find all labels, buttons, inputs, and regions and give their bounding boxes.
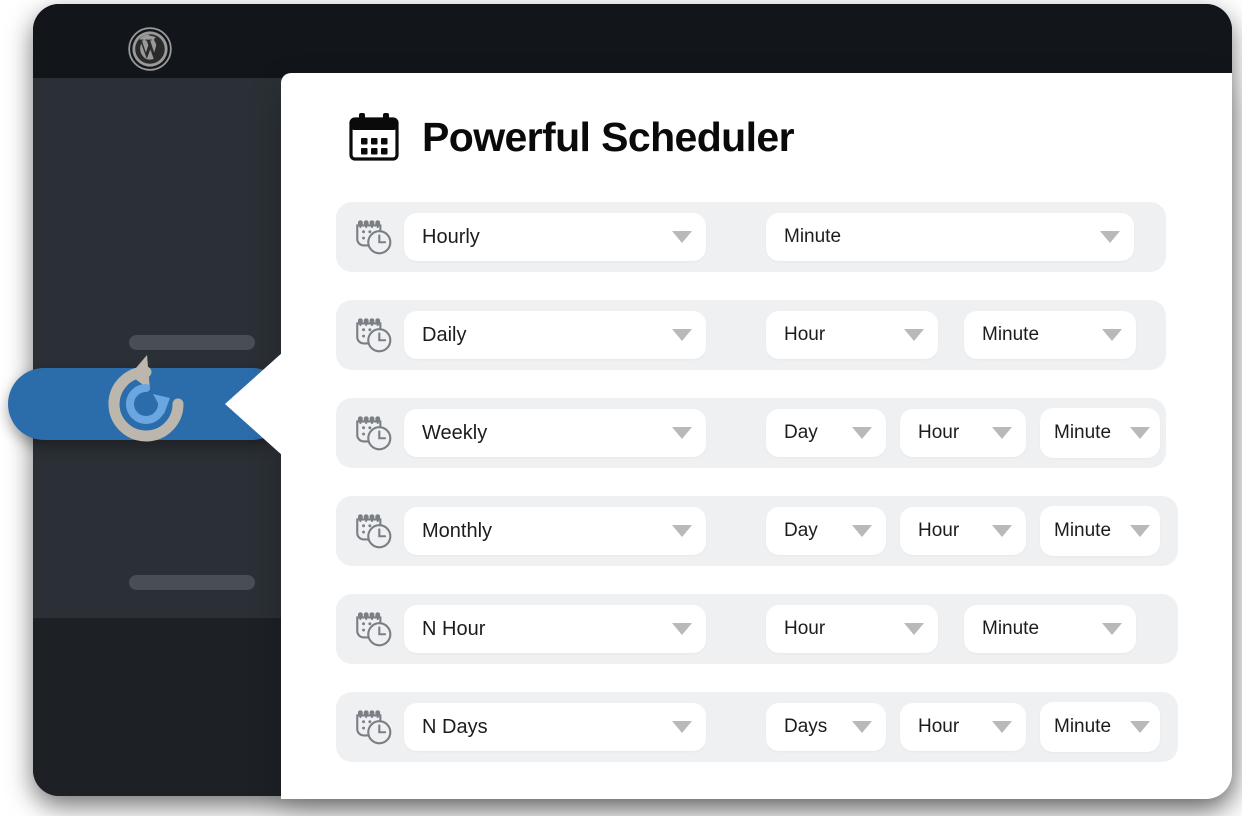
- refresh-sync-icon: [92, 350, 200, 458]
- frequency-value: Monthly: [422, 520, 492, 543]
- minute-select[interactable]: Minute: [964, 605, 1136, 653]
- hour-value: Hour: [784, 618, 825, 640]
- hour-value: Hour: [918, 716, 959, 738]
- chevron-down-icon: [672, 721, 692, 733]
- calendar-clock-icon: [352, 412, 394, 454]
- admin-topbar: [33, 4, 1232, 78]
- minute-select[interactable]: Minute: [1040, 702, 1160, 752]
- chevron-down-icon: [852, 427, 872, 439]
- sidebar-menu-placeholder[interactable]: [129, 575, 255, 590]
- schedule-row: N Days Days Hour Minute: [336, 692, 1178, 762]
- hour-select[interactable]: Hour: [900, 409, 1026, 457]
- chevron-down-icon: [1130, 427, 1150, 439]
- frequency-select[interactable]: Weekly: [404, 409, 706, 457]
- frequency-value: N Days: [422, 716, 488, 739]
- minute-value: Minute: [784, 226, 841, 248]
- chevron-down-icon: [992, 525, 1012, 537]
- hour-select[interactable]: Hour: [900, 507, 1026, 555]
- schedule-row: N Hour Hour Minute: [336, 594, 1178, 664]
- hour-value: Hour: [918, 422, 959, 444]
- minute-select[interactable]: Minute: [964, 311, 1136, 359]
- minute-select[interactable]: Minute: [766, 213, 1134, 261]
- schedule-row: Monthly Day Hour Minute: [336, 496, 1178, 566]
- schedule-row: Hourly Minute: [336, 202, 1166, 272]
- frequency-value: N Hour: [422, 618, 485, 641]
- frequency-value: Daily: [422, 324, 466, 347]
- chevron-down-icon: [1130, 721, 1150, 733]
- frequency-select[interactable]: Hourly: [404, 213, 706, 261]
- chevron-down-icon: [1130, 525, 1150, 537]
- chevron-down-icon: [672, 623, 692, 635]
- day-select[interactable]: Day: [766, 409, 886, 457]
- admin-sidebar-lower: [33, 618, 283, 796]
- schedule-row: Weekly Day Hour Minute: [336, 398, 1166, 468]
- chevron-down-icon: [672, 231, 692, 243]
- calendar-clock-icon: [352, 706, 394, 748]
- frequency-value: Hourly: [422, 226, 480, 249]
- frequency-value: Weekly: [422, 422, 487, 445]
- minute-value: Minute: [1054, 422, 1111, 444]
- chevron-down-icon: [904, 329, 924, 341]
- calendar-clock-icon: [352, 314, 394, 356]
- day-value: Day: [784, 422, 818, 444]
- calendar-clock-icon: [352, 510, 394, 552]
- schedule-row: Daily Hour Minute: [336, 300, 1166, 370]
- frequency-select[interactable]: Daily: [404, 311, 706, 359]
- wordpress-logo-icon: [127, 26, 173, 72]
- hour-select[interactable]: Hour: [766, 605, 938, 653]
- schedule-row-list: Hourly Minute: [336, 202, 1178, 790]
- page-title: Powerful Scheduler: [422, 114, 794, 161]
- calendar-clock-icon: [352, 216, 394, 258]
- scheduler-panel: Powerful Scheduler: [281, 73, 1232, 799]
- minute-value: Minute: [982, 324, 1039, 346]
- chevron-down-icon: [1102, 329, 1122, 341]
- chevron-down-icon: [672, 427, 692, 439]
- chevron-down-icon: [992, 427, 1012, 439]
- calendar-clock-icon: [352, 608, 394, 650]
- frequency-select[interactable]: N Days: [404, 703, 706, 751]
- admin-sidebar: [33, 78, 283, 618]
- frequency-select[interactable]: N Hour: [404, 605, 706, 653]
- minute-select[interactable]: Minute: [1040, 408, 1160, 458]
- days-value: Days: [784, 716, 827, 738]
- day-value: Day: [784, 520, 818, 542]
- chevron-down-icon: [672, 329, 692, 341]
- minute-value: Minute: [982, 618, 1039, 640]
- frequency-select[interactable]: Monthly: [404, 507, 706, 555]
- hour-value: Hour: [918, 520, 959, 542]
- chevron-down-icon: [1100, 231, 1120, 243]
- minute-value: Minute: [1054, 716, 1111, 738]
- day-select[interactable]: Day: [766, 507, 886, 555]
- chevron-down-icon: [852, 525, 872, 537]
- calendar-icon: [348, 111, 400, 163]
- panel-header: Powerful Scheduler: [348, 111, 794, 163]
- hour-select[interactable]: Hour: [766, 311, 938, 359]
- chevron-down-icon: [852, 721, 872, 733]
- minute-value: Minute: [1054, 520, 1111, 542]
- chevron-down-icon: [1102, 623, 1122, 635]
- chevron-down-icon: [992, 721, 1012, 733]
- days-select[interactable]: Days: [766, 703, 886, 751]
- hour-value: Hour: [784, 324, 825, 346]
- minute-select[interactable]: Minute: [1040, 506, 1160, 556]
- chevron-down-icon: [904, 623, 924, 635]
- chevron-down-icon: [672, 525, 692, 537]
- screenshot-stage: Powerful Scheduler: [0, 0, 1242, 816]
- hour-select[interactable]: Hour: [900, 703, 1026, 751]
- sidebar-menu-placeholder[interactable]: [129, 335, 255, 350]
